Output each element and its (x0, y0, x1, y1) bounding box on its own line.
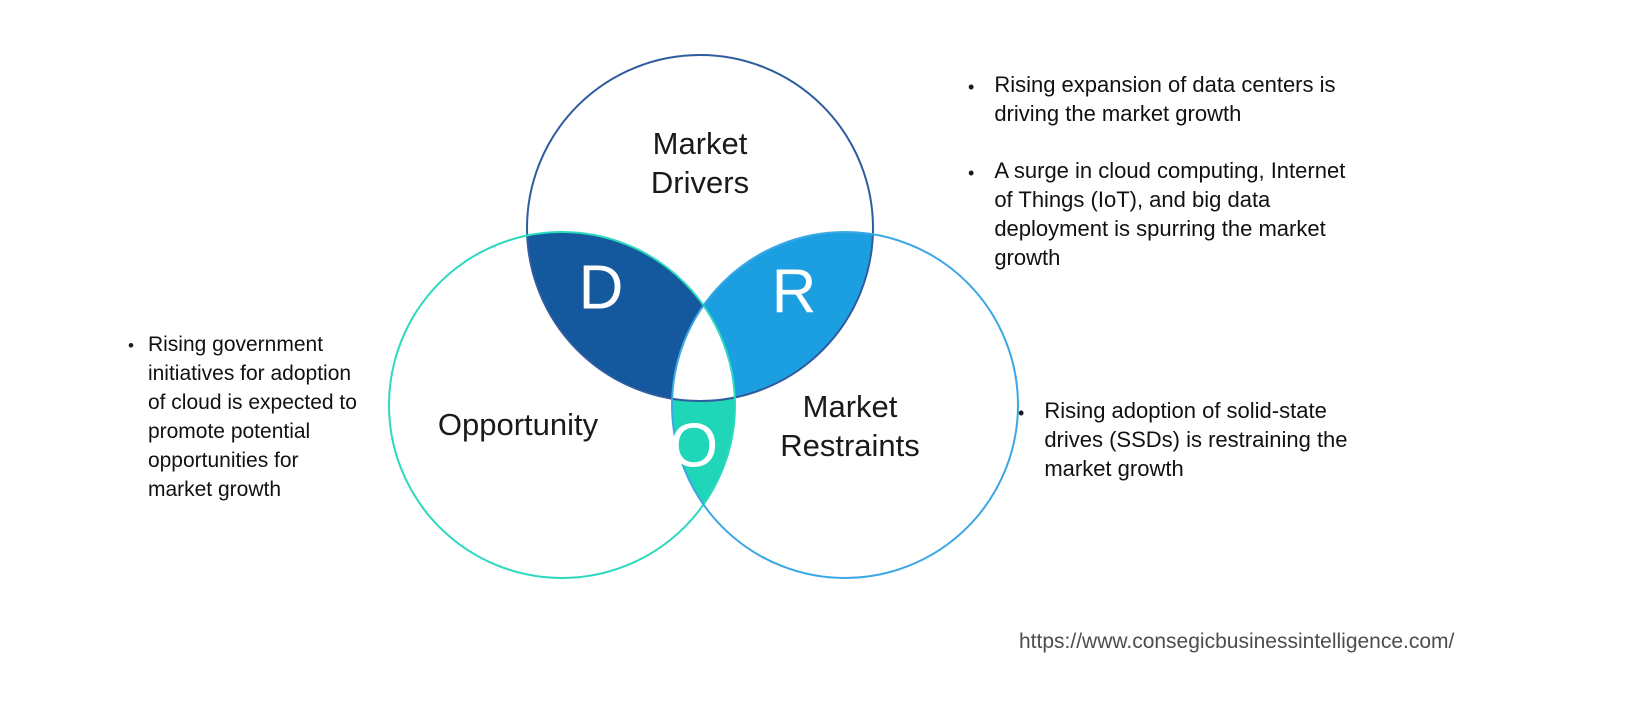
source-url-link[interactable]: https://www.consegicbusinessintelligence… (1019, 630, 1454, 654)
list-item: • Rising adoption of solid-state drives … (1018, 396, 1418, 483)
market-drivers-bullet-text-1: Rising expansion of data centers is driv… (994, 70, 1369, 128)
market-restraints-bullet-text: Rising adoption of solid-state drives (S… (1044, 396, 1354, 483)
bullet-point-icon: • (968, 156, 974, 182)
market-drivers-bullet-text-2: A surge in cloud computing, Internet of … (994, 156, 1369, 272)
venn-diagram-page: Market Drivers Opportunity Market Restra… (0, 0, 1641, 708)
label-market-restraints-line2: Restraints (780, 428, 920, 463)
venn-svg: Market Drivers Opportunity Market Restra… (370, 20, 1030, 610)
venn-diagram: Market Drivers Opportunity Market Restra… (370, 20, 1030, 610)
label-market-restraints-line1: Market (803, 389, 898, 424)
market-drivers-bullet-list: • Rising expansion of data centers is dr… (968, 70, 1398, 272)
bullet-point-icon: • (1018, 396, 1024, 422)
bullet-point-icon: • (128, 330, 134, 354)
opportunity-bullet-list: • Rising government initiatives for adop… (128, 330, 378, 504)
lens-letter-r: R (772, 257, 817, 326)
opportunity-bullet-text: Rising government initiatives for adopti… (148, 330, 358, 504)
list-item: • Rising expansion of data centers is dr… (968, 70, 1398, 128)
label-opportunity: Opportunity (438, 407, 599, 442)
market-restraints-bullet-list: • Rising adoption of solid-state drives … (1018, 396, 1418, 483)
label-market-drivers-line2: Drivers (651, 165, 749, 200)
lens-letter-o: O (670, 411, 718, 480)
label-market-drivers-line1: Market (653, 126, 748, 161)
bullet-point-icon: • (968, 70, 974, 96)
lens-letter-d: D (579, 253, 624, 322)
list-item: • Rising government initiatives for adop… (128, 330, 378, 504)
list-item: • A surge in cloud computing, Internet o… (968, 156, 1398, 272)
